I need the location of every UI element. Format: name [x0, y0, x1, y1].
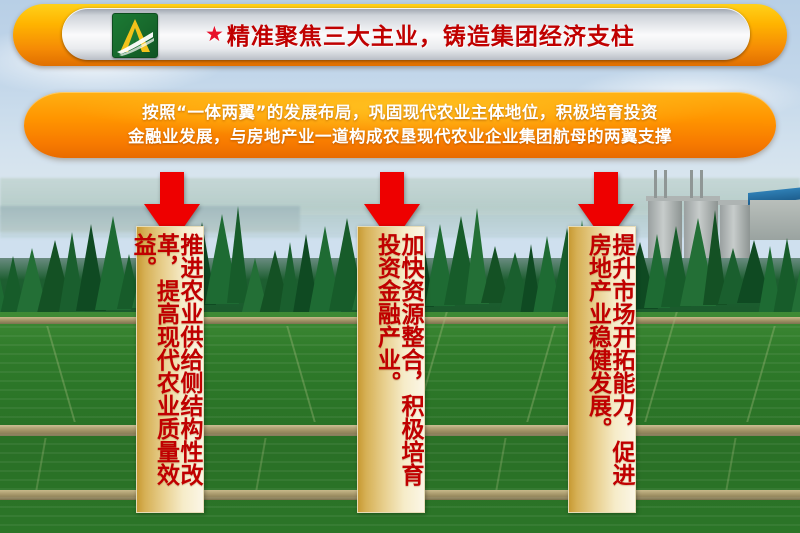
page-title-text: 精准聚焦三大主业，铸造集团经济支柱 — [227, 17, 635, 51]
pillar-text-realestate: 提升市场开拓能力，促进房地产业稳健发展。 — [585, 233, 632, 506]
pillar-panel-finance[interactable]: 加快资源整合，积极培育投资金融产业。 — [357, 226, 425, 513]
field-plot-divider — [725, 438, 736, 490]
conifer-tree — [791, 230, 800, 314]
star-icon: ★ — [205, 24, 225, 45]
subtitle-line-2: 金融业发展，与房地产业一道构成农垦现代农业企业集团航母的两翼支撑 — [42, 125, 758, 149]
page-title: ★ 精准聚焦三大主业，铸造集团经济支柱 — [205, 8, 750, 60]
agriculture-group-logo-icon — [112, 13, 158, 58]
subtitle-line-1: 按照“一体两翼”的发展布局，巩固现代农业主体地位，积极培育投资 — [42, 101, 758, 125]
pillar-text-finance: 加快资源整合，积极培育投资金融产业。 — [374, 233, 421, 506]
pillar-panel-realestate[interactable]: 提升市场开拓能力，促进房地产业稳健发展。 — [568, 226, 636, 513]
field-plot-divider — [255, 438, 266, 490]
field-furrow — [0, 524, 800, 526]
field-furrow — [0, 515, 800, 517]
pillar-text-agriculture: 推进农业供给侧结构性改革，提高现代农业质量效益。 — [130, 233, 200, 506]
field-plot-divider — [644, 312, 678, 422]
slide-canvas: ★ 精准聚焦三大主业，铸造集团经济支柱 按照“一体两翼”的发展布局，巩固现代农业… — [0, 0, 800, 533]
pillar-panel-agriculture[interactable]: 推进农业供给侧结构性改革，提高现代农业质量效益。 — [136, 226, 204, 513]
field-plot-divider — [35, 438, 46, 490]
field-plot-divider — [495, 438, 506, 490]
subtitle-banner: 按照“一体两翼”的发展布局，巩固现代农业主体地位，积极培育投资 金融业发展，与房… — [24, 92, 776, 158]
